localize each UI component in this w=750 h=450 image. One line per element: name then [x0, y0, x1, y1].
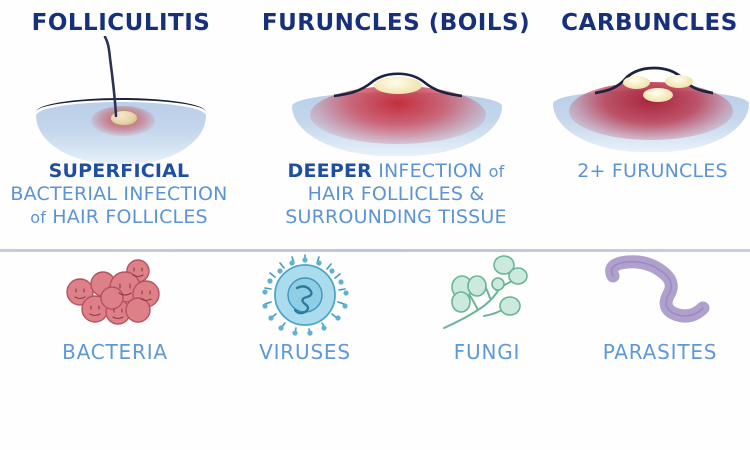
caption-line-3: HAIR FOLLICLES [52, 206, 208, 228]
infographic-page: FOLLICULITIS SUPERFICIAL BACTERIAL INFEC… [0, 0, 750, 450]
caption-furuncles: DEEPER INFECTION of HAIR FOLLICLES & SUR… [252, 160, 540, 229]
hair-shaft-icon [88, 36, 128, 118]
caption-line-2: HAIR FOLLICLES & [308, 183, 485, 205]
caption-line-1: 2+ FURUNCLES [577, 160, 728, 182]
caption-lead: DEEPER [288, 160, 372, 182]
panel-title-furuncles: FURUNCLES (BOILS) [252, 10, 540, 36]
caption-carbuncles: 2+ FURUNCLES [545, 160, 750, 183]
pathogens-row: BACTERIA [0, 254, 750, 384]
pus-head [374, 77, 422, 94]
pus-head [665, 75, 693, 88]
pathogen-fungi: FUNGI [392, 254, 582, 364]
caption-line-1-connector: of [489, 162, 505, 181]
caption-line-2: BACTERIAL INFECTION [10, 183, 227, 205]
caption-line-3: SURROUNDING TISSUE [285, 206, 507, 228]
furuncle-skin-diagram [252, 40, 540, 152]
pathogen-bacteria: BACTERIA [20, 254, 210, 364]
parasite-worm-icon [565, 254, 750, 336]
caption-folliculitis: SUPERFICIAL BACTERIAL INFECTION of HAIR … [0, 160, 250, 229]
pathogen-viruses: VIRUSES [210, 254, 400, 364]
carbuncle-skin-diagram [545, 40, 750, 152]
pus-head [623, 76, 650, 89]
panel-title-carbuncles: CARBUNCLES [539, 10, 750, 36]
fungal-hyphae-icon [392, 254, 582, 336]
condition-panel-carbuncles: CARBUNCLES 2+ FURUNCLES [545, 0, 750, 248]
pathogen-label-parasites: PARASITES [565, 340, 750, 364]
condition-panel-furuncles: FURUNCLES (BOILS) DEEPER INFECTION of HA… [252, 0, 540, 248]
virus-particle-icon [210, 254, 400, 336]
skin-conditions-row: FOLLICULITIS SUPERFICIAL BACTERIAL INFEC… [0, 0, 750, 248]
condition-panel-folliculitis: FOLLICULITIS SUPERFICIAL BACTERIAL INFEC… [0, 0, 250, 248]
pathogen-parasites: PARASITES [565, 254, 750, 364]
pathogen-label-viruses: VIRUSES [210, 340, 400, 364]
pathogen-label-fungi: FUNGI [392, 340, 582, 364]
folliculitis-skin-diagram [0, 40, 250, 152]
pus-head [643, 88, 673, 102]
bacteria-cluster-icon [20, 254, 210, 336]
panel-title-folliculitis: FOLLICULITIS [0, 10, 250, 36]
pathogen-label-bacteria: BACTERIA [20, 340, 210, 364]
caption-line-3-connector: of [30, 208, 46, 227]
caption-line-1-rest: INFECTION [378, 160, 482, 182]
section-divider [0, 249, 750, 252]
